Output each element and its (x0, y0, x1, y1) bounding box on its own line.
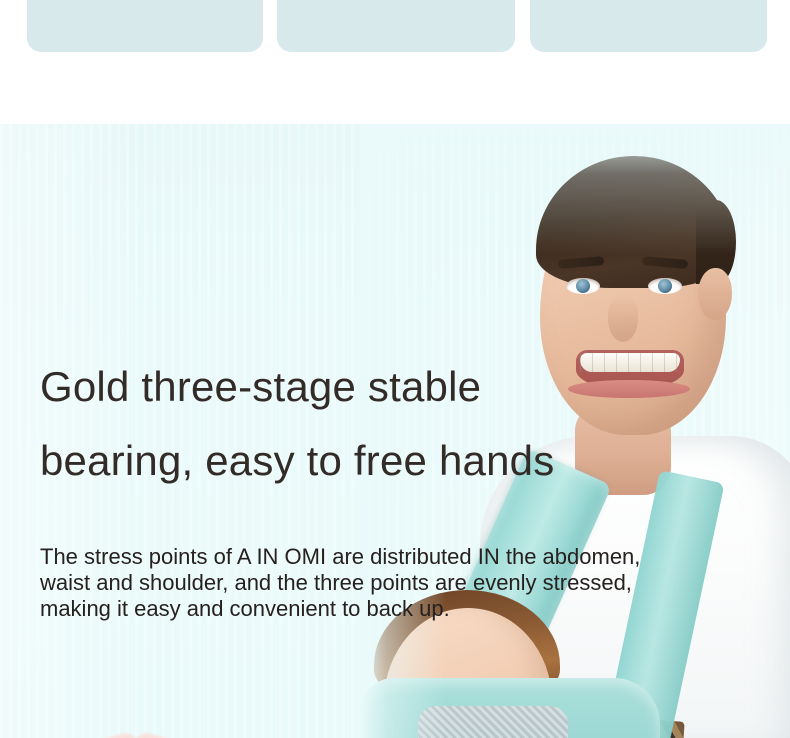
hero-headline: Gold three-stage stable bearing, easy to… (40, 350, 680, 498)
father-eye-right (648, 278, 682, 294)
anatomy-stress-diagram (45, 730, 227, 738)
pelvis-wing-left (46, 730, 149, 738)
pelvis-wing-right (124, 730, 227, 738)
father-nose (608, 296, 638, 342)
carrier-seat-lining (418, 706, 568, 738)
product-detail-page: AINOMI Gold three-stage stable bearing, … (0, 0, 790, 738)
body-line-2: waist and shoulder, and the three points… (40, 570, 758, 596)
father-eye-left (566, 278, 600, 294)
product-card-3[interactable] (530, 0, 767, 52)
father-ear (698, 268, 732, 320)
body-line-1: The stress points of A IN OMI are distri… (40, 544, 758, 570)
product-card-strip (0, 0, 790, 124)
product-card-2[interactable] (277, 0, 515, 52)
hero-body-copy: The stress points of A IN OMI are distri… (40, 544, 758, 622)
product-card-1[interactable] (27, 0, 263, 52)
hero-section: AINOMI Gold three-stage stable bearing, … (0, 124, 790, 738)
body-line-3: making it easy and convenient to back up… (40, 596, 758, 622)
